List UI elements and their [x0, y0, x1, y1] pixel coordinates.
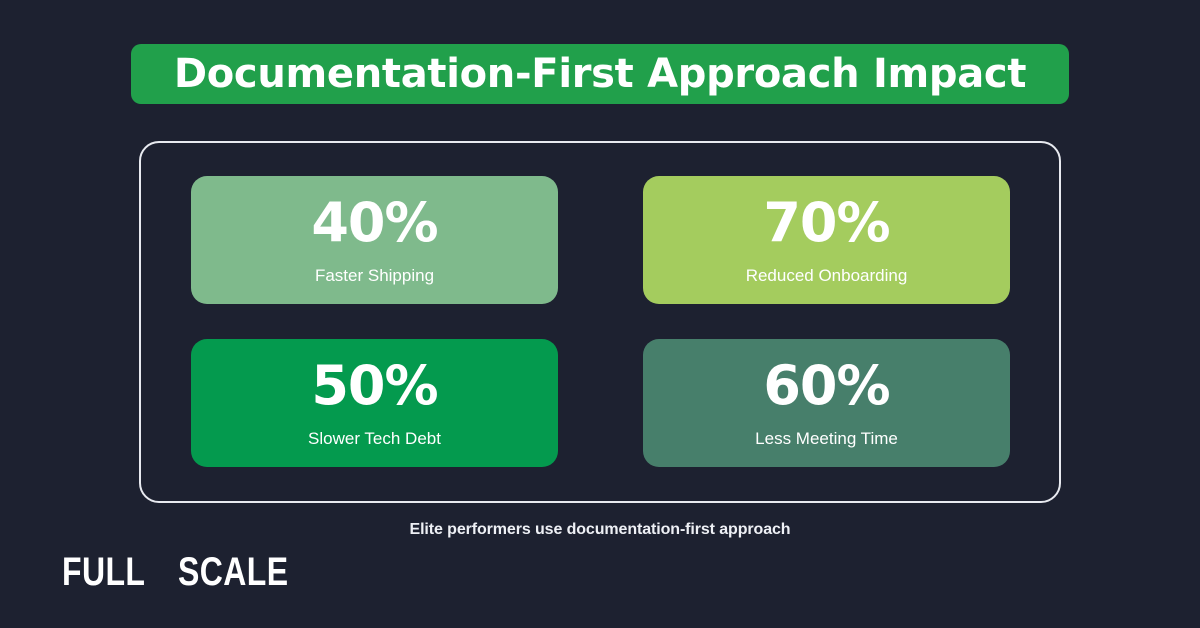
stat-card-faster-shipping: 40% Faster Shipping — [191, 176, 558, 304]
brand-logo: FULL SCALE — [62, 552, 316, 592]
stat-card-less-meeting-time: 60% Less Meeting Time — [643, 339, 1010, 467]
stat-value: 40% — [311, 196, 437, 250]
stats-grid: 40% Faster Shipping 70% Reduced Onboardi… — [191, 176, 1010, 467]
stat-value: 70% — [763, 196, 889, 250]
stat-card-reduced-onboarding: 70% Reduced Onboarding — [643, 176, 1010, 304]
stat-label: Slower Tech Debt — [308, 430, 441, 447]
stat-label: Less Meeting Time — [755, 430, 898, 447]
stat-card-slower-tech-debt: 50% Slower Tech Debt — [191, 339, 558, 467]
logo-word-scale: SCALE — [178, 552, 288, 592]
stat-value: 60% — [763, 359, 889, 413]
logo-word-full: FULL — [62, 552, 145, 592]
caption-text: Elite performers use documentation-first… — [0, 521, 1200, 539]
stat-value: 50% — [311, 359, 437, 413]
page-title: Documentation-First Approach Impact — [174, 54, 1026, 94]
stat-label: Reduced Onboarding — [746, 267, 908, 284]
stat-label: Faster Shipping — [315, 267, 434, 284]
title-banner: Documentation-First Approach Impact — [131, 44, 1069, 104]
